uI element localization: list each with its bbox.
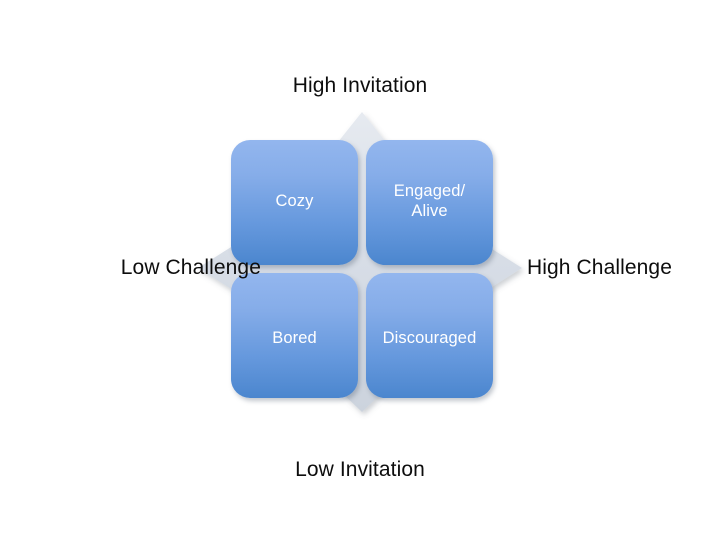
quadrant-bored[interactable]: Bored — [231, 273, 358, 398]
axis-label-high-invitation: High Invitation — [0, 74, 720, 98]
axis-label-high-challenge: High Challenge — [527, 256, 672, 280]
quadrant-bored-label: Bored — [266, 329, 323, 348]
quadrant-engaged-alive[interactable]: Engaged/ Alive — [366, 140, 493, 265]
quadrant-discouraged[interactable]: Discouraged — [366, 273, 493, 398]
axis-label-low-invitation: Low Invitation — [0, 458, 720, 482]
axis-label-low-challenge: Low Challenge — [121, 256, 261, 280]
quadrant-engaged-alive-label: Engaged/ Alive — [388, 182, 471, 221]
quadrant-discouraged-label: Discouraged — [377, 329, 483, 348]
diagram-canvas: Cozy Engaged/ Alive Bored Discouraged Hi… — [0, 0, 720, 540]
quadrant-cozy[interactable]: Cozy — [231, 140, 358, 265]
quadrant-cozy-label: Cozy — [270, 192, 320, 211]
